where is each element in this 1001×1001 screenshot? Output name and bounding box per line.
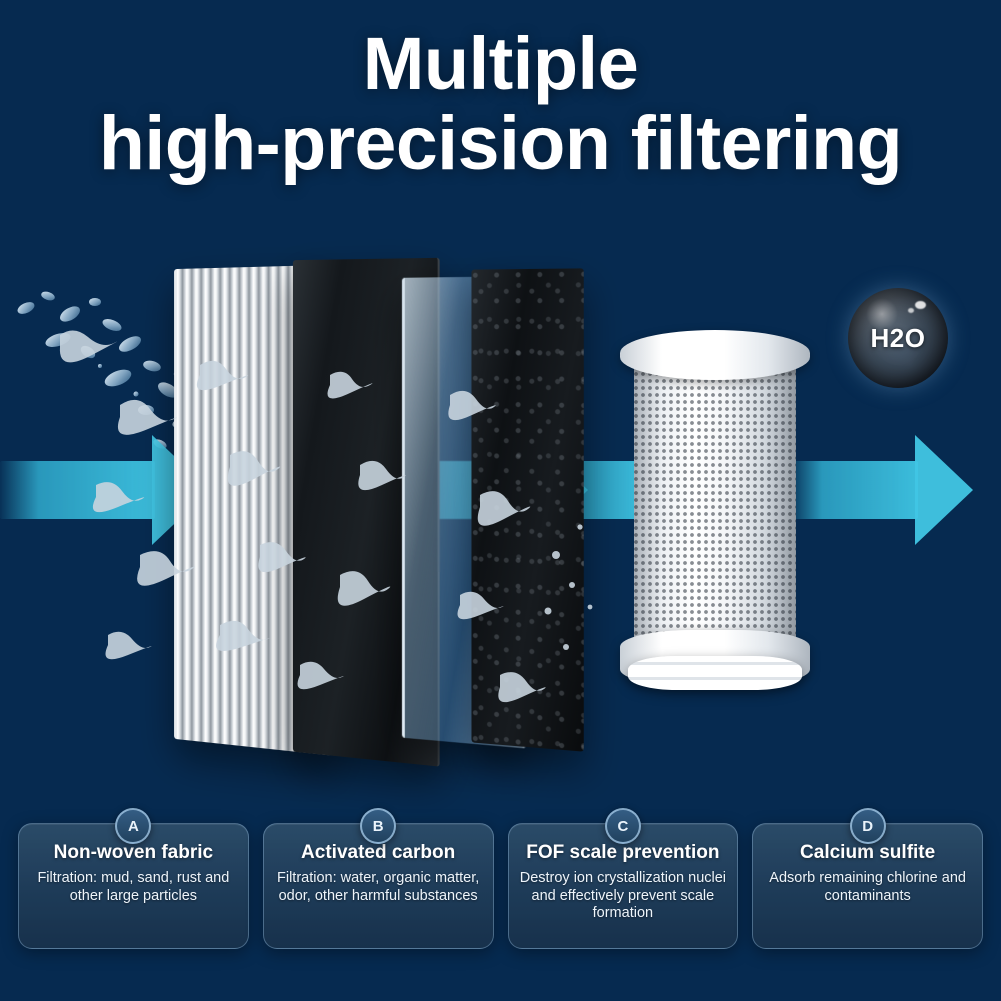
filter-layer-carbon [471,268,583,751]
highlight-specular-small-icon [908,308,914,313]
page-title: Multiple high-precision filtering [0,28,1001,181]
title-line-2: high-precision filtering [5,107,996,181]
card-badge-a: A [115,808,151,844]
infographic-stage: Multiple high-precision filtering [0,0,1001,1001]
card-badge-b: B [360,808,396,844]
card-desc-b: Filtration: water, organic matter, odor,… [272,870,485,905]
feature-card-a[interactable]: A Non-woven fabric Filtration: mud, sand… [18,823,249,949]
feature-card-c[interactable]: C FOF scale prevention Destroy ion cryst… [508,823,739,949]
card-title-a: Non-woven fabric [27,842,240,864]
title-line-1: Multiple [0,28,1001,101]
card-desc-a: Filtration: mud, sand, rust and other la… [27,870,240,905]
highlight-specular-icon [915,301,926,309]
card-title-d: Calcium sulfite [761,842,974,864]
h2o-droplet-badge: H2O [848,288,948,388]
feature-card-row: A Non-woven fabric Filtration: mud, sand… [0,823,1001,949]
feature-card-d[interactable]: D Calcium sulfite Adsorb remaining chlor… [752,823,983,949]
cartridge-mesh-body [634,358,796,650]
cartridge-top-cap [620,330,810,380]
card-badge-c: C [605,808,641,844]
filter-layer-group [0,255,620,765]
flow-arrow-4 [790,435,975,545]
card-desc-c: Destroy ion crystallization nuclei and e… [517,870,730,923]
card-title-b: Activated carbon [272,842,485,864]
card-desc-d: Adsorb remaining chlorine and contaminan… [761,870,974,905]
cartridge-thread [628,656,802,690]
h2o-label: H2O [871,323,926,354]
filter-cartridge [620,330,810,680]
feature-card-b[interactable]: B Activated carbon Filtration: water, or… [263,823,494,949]
card-title-c: FOF scale prevention [517,842,730,864]
card-badge-d: D [850,808,886,844]
